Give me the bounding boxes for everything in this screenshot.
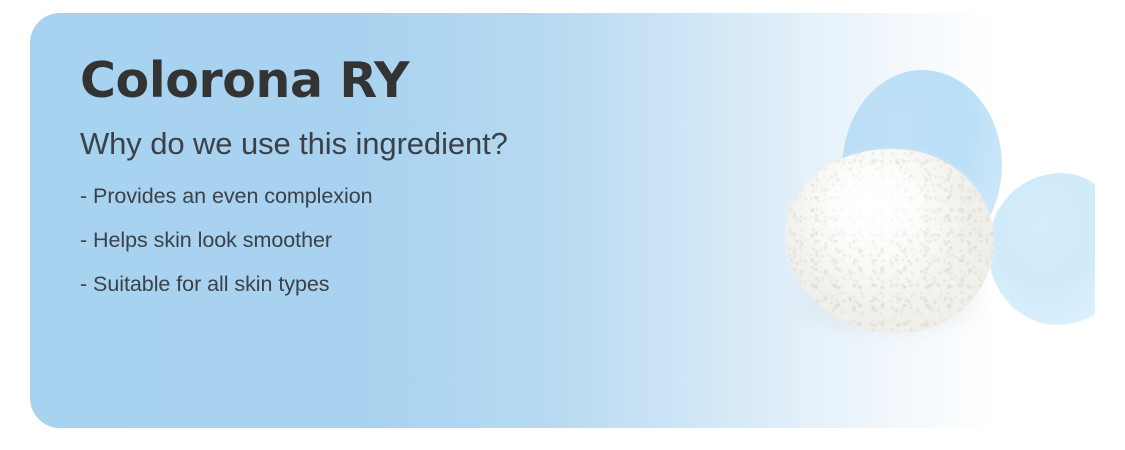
text-column: Colorona RY Why do we use this ingredien… [80, 55, 720, 297]
decorative-blob-bottom-icon [988, 173, 1095, 325]
list-item: - Provides an even complexion [80, 184, 720, 209]
benefit-list: - Provides an even complexion - Helps sk… [80, 184, 720, 297]
page-title: Colorona RY [80, 55, 720, 107]
list-item: - Suitable for all skin types [80, 272, 720, 297]
subtitle-question: Why do we use this ingredient? [80, 127, 720, 162]
list-item: - Helps skin look smoother [80, 228, 720, 253]
ingredient-card: Colorona RY Why do we use this ingredien… [30, 13, 1095, 428]
powder-highlight [822, 167, 934, 253]
powder-product-image [778, 145, 1002, 341]
ingredient-banner: Colorona RY Why do we use this ingredien… [0, 0, 1125, 450]
